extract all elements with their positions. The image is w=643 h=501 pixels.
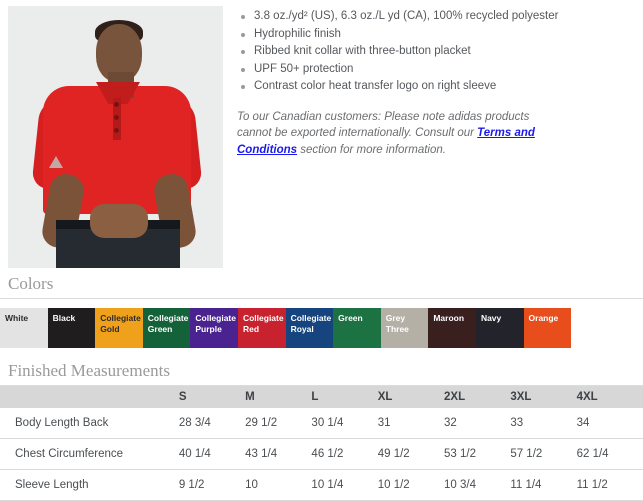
feature-text: UPF 50+ protection <box>254 63 353 75</box>
measurements-section: Finished Measurements S M L XL 2XL 3XL 4… <box>0 361 643 501</box>
swatch-label: Green <box>338 313 363 323</box>
swatch-label: Collegiate Royal <box>291 313 332 334</box>
measurements-heading: Finished Measurements <box>0 361 643 385</box>
feature-text: Ribbed knit collar with three-button pla… <box>254 45 471 57</box>
canadian-customers-note: To our Canadian customers: Please note a… <box>237 109 562 159</box>
cell-m: 43 1/4 <box>245 439 311 470</box>
cell-2xl: 10 3/4 <box>444 470 510 501</box>
table-row: Sleeve Length 9 1/2 10 10 1/4 10 1/2 10 … <box>0 470 643 501</box>
color-swatch-collegiate-royal[interactable]: Collegiate Royal <box>286 308 334 348</box>
cell-4xl: 11 1/2 <box>577 470 643 501</box>
colors-divider <box>0 298 643 299</box>
cell-4xl: 34 <box>577 408 643 439</box>
column-header-3xl: 3XL <box>510 386 576 408</box>
cell-s: 40 1/4 <box>179 439 245 470</box>
swatch-label: Collegiate Green <box>148 313 189 334</box>
row-label: Chest Circumference <box>0 439 179 470</box>
cell-m: 29 1/2 <box>245 408 311 439</box>
product-photo[interactable] <box>8 6 223 268</box>
list-item: 3.8 oz./yd² (US), 6.3 oz./L yd (CA), 100… <box>237 8 629 26</box>
color-swatch-list: White Black Collegiate Gold Collegiate G… <box>0 308 643 348</box>
color-swatch-black[interactable]: Black <box>48 308 96 348</box>
feature-text: Hydrophilic finish <box>254 28 341 40</box>
list-item: Ribbed knit collar with three-button pla… <box>237 43 629 61</box>
table-row: Chest Circumference 40 1/4 43 1/4 46 1/2… <box>0 439 643 470</box>
color-swatch-orange[interactable]: Orange <box>524 308 572 348</box>
cell-l: 30 1/4 <box>311 408 377 439</box>
column-header-measurement <box>0 386 179 408</box>
feature-list: 3.8 oz./yd² (US), 6.3 oz./L yd (CA), 100… <box>237 8 629 96</box>
color-swatch-collegiate-gold[interactable]: Collegiate Gold <box>95 308 143 348</box>
cell-m: 10 <box>245 470 311 501</box>
feature-text: 3.8 oz./yd² (US), 6.3 oz./L yd (CA), 100… <box>254 10 558 22</box>
swatch-label: Orange <box>529 313 559 323</box>
color-swatch-green[interactable]: Green <box>333 308 381 348</box>
color-swatch-maroon[interactable]: Maroon <box>428 308 476 348</box>
column-header-s: S <box>179 386 245 408</box>
column-header-2xl: 2XL <box>444 386 510 408</box>
swatch-label: Grey Three <box>386 313 409 334</box>
cell-3xl: 11 1/4 <box>510 470 576 501</box>
table-row: Body Length Back 28 3/4 29 1/2 30 1/4 31… <box>0 408 643 439</box>
note-text-after: section for more information. <box>297 144 446 156</box>
color-swatch-collegiate-green[interactable]: Collegiate Green <box>143 308 191 348</box>
polo-button-3 <box>114 128 119 133</box>
color-swatch-white[interactable]: White <box>0 308 48 348</box>
column-header-4xl: 4XL <box>577 386 643 408</box>
swatch-label: Maroon <box>433 313 464 323</box>
list-item: UPF 50+ protection <box>237 61 629 79</box>
cell-2xl: 32 <box>444 408 510 439</box>
list-item: Contrast color heat transfer logo on rig… <box>237 78 629 96</box>
colors-heading-wrap: Colors <box>0 274 643 299</box>
swatch-label: Black <box>53 313 76 323</box>
swatch-label: Collegiate Gold <box>100 313 141 334</box>
feature-text: Contrast color heat transfer logo on rig… <box>254 80 496 92</box>
cell-3xl: 57 1/2 <box>510 439 576 470</box>
colors-heading: Colors <box>0 274 643 298</box>
cell-xl: 31 <box>378 408 444 439</box>
cell-s: 9 1/2 <box>179 470 245 501</box>
cell-l: 46 1/2 <box>311 439 377 470</box>
swatch-label: White <box>5 313 28 323</box>
table-header-row: S M L XL 2XL 3XL 4XL <box>0 386 643 408</box>
measurements-table: S M L XL 2XL 3XL 4XL Body Length Back 28… <box>0 386 643 501</box>
cell-xl: 10 1/2 <box>378 470 444 501</box>
model-hands <box>90 204 148 238</box>
color-swatch-navy[interactable]: Navy <box>476 308 524 348</box>
polo-button-1 <box>114 102 119 107</box>
colors-section: Colors White Black Collegiate Gold Colle… <box>0 272 643 348</box>
swatch-label: Collegiate Purple <box>195 313 236 334</box>
swatch-label: Collegiate Red <box>243 313 284 334</box>
swatch-label: Navy <box>481 313 501 323</box>
cell-3xl: 33 <box>510 408 576 439</box>
list-item: Hydrophilic finish <box>237 26 629 44</box>
measurements-heading-wrap: Finished Measurements <box>0 361 643 386</box>
cell-xl: 49 1/2 <box>378 439 444 470</box>
cell-4xl: 62 1/4 <box>577 439 643 470</box>
color-swatch-collegiate-purple[interactable]: Collegiate Purple <box>190 308 238 348</box>
column-header-l: L <box>311 386 377 408</box>
row-label: Body Length Back <box>0 408 179 439</box>
color-swatch-grey-three[interactable]: Grey Three <box>381 308 429 348</box>
polo-button-2 <box>114 115 119 120</box>
column-header-xl: XL <box>378 386 444 408</box>
column-header-m: M <box>245 386 311 408</box>
cell-s: 28 3/4 <box>179 408 245 439</box>
cell-2xl: 53 1/2 <box>444 439 510 470</box>
product-overview: 3.8 oz./yd² (US), 6.3 oz./L yd (CA), 100… <box>0 0 643 272</box>
row-label: Sleeve Length <box>0 470 179 501</box>
cell-l: 10 1/4 <box>311 470 377 501</box>
product-details: 3.8 oz./yd² (US), 6.3 oz./L yd (CA), 100… <box>223 0 643 170</box>
color-swatch-collegiate-red[interactable]: Collegiate Red <box>238 308 286 348</box>
